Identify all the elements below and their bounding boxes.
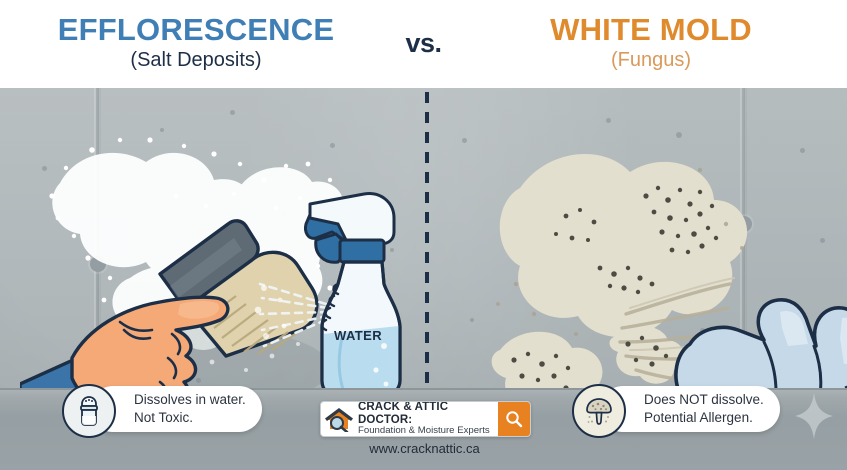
badge-right-pill: Does NOT dissolve. Potential Allergen. <box>600 386 780 432</box>
salt-shaker-icon <box>62 384 116 438</box>
logo-title: CRACK & ATTIC DOCTOR: <box>358 401 498 426</box>
water-label: WATER <box>318 328 398 343</box>
page-title-right: WHITE MOLD <box>455 14 847 47</box>
house-magnifier-icon <box>321 402 357 436</box>
search-icon <box>505 410 523 428</box>
header-left: EFFLORESCENCE (Salt Deposits) <box>0 14 392 73</box>
illustration-panel: WATER <box>0 88 847 470</box>
page-title-left: EFFLORESCENCE <box>0 14 392 47</box>
website-url: www.cracknattic.ca <box>320 441 529 456</box>
sparkle-icon <box>795 393 833 439</box>
badge-left-line1: Dissolves in water. <box>134 391 246 409</box>
brand-logo[interactable]: CRACK & ATTIC DOCTOR: Foundation & Moist… <box>320 401 531 437</box>
header-right: WHITE MOLD (Fungus) <box>455 14 847 73</box>
page-subtitle-right: (Fungus) <box>455 48 847 73</box>
page-subtitle-left: (Salt Deposits) <box>0 48 392 73</box>
badge-left-line2: Not Toxic. <box>134 409 246 427</box>
infographic-root: EFFLORESCENCE (Salt Deposits) vs. WHITE … <box>0 0 847 470</box>
logo-text: CRACK & ATTIC DOCTOR: Foundation & Moist… <box>357 402 498 436</box>
header: EFFLORESCENCE (Salt Deposits) vs. WHITE … <box>0 0 847 88</box>
mushroom-icon <box>572 384 626 438</box>
logo-tagline: Foundation & Moisture Experts <box>358 426 498 437</box>
vs-label: vs. <box>392 28 455 59</box>
spray-bottle <box>298 188 418 403</box>
search-button[interactable] <box>498 402 530 436</box>
badge-right-line1: Does NOT dissolve. <box>644 391 764 409</box>
badge-right-line2: Potential Allergen. <box>644 409 764 427</box>
